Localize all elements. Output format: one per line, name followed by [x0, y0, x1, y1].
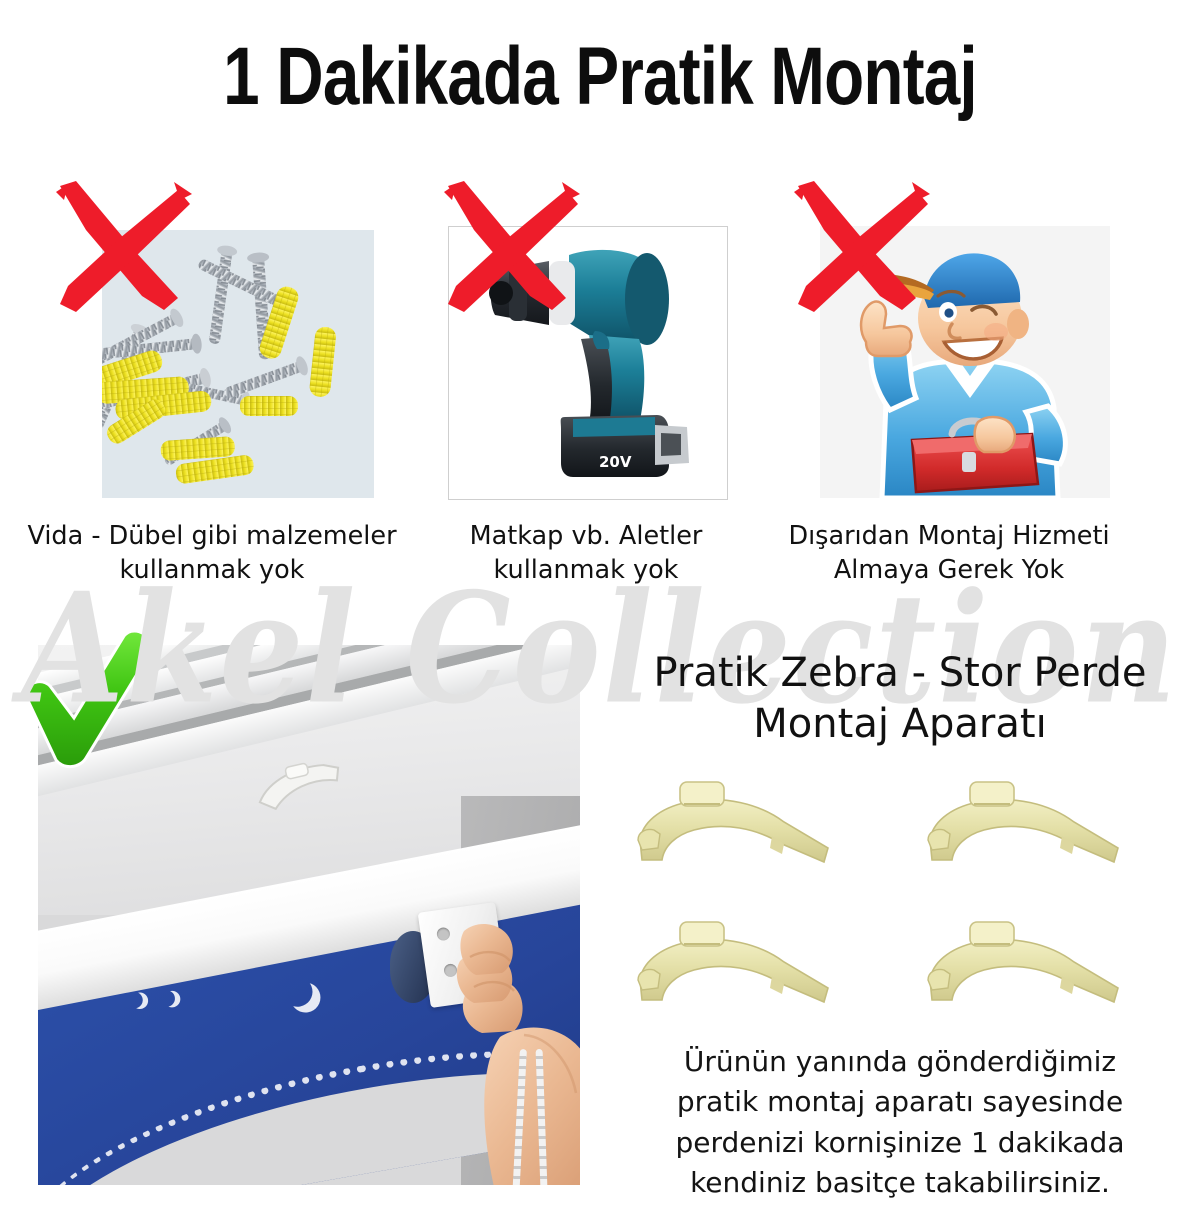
page-title: 1 Dakikada Pratik Montaj: [120, 34, 1080, 120]
red-x-icon: [784, 178, 934, 328]
product-heading-line-1: Pratik Zebra - Stor Perde: [600, 648, 1200, 699]
curtain-rail-mounting-clip: [922, 778, 1132, 870]
no-item-caption: Vida - Dübel gibi malzemeler kullanmak y…: [2, 520, 422, 587]
curtain-rail-mounting-clip: [922, 918, 1132, 1010]
description-line-4: kendiniz basitçe takabilirsiniz.: [600, 1163, 1200, 1203]
caption-line-2: Almaya Gerek Yok: [784, 554, 1114, 588]
product-heading: Pratik Zebra - Stor Perde Montaj Aparatı: [600, 648, 1200, 750]
not-needed-items-row: Vida - Dübel gibi malzemeler kullanmak y…: [0, 178, 1200, 598]
no-item-installer-service: Dışarıdan Montaj Hizmeti Almaya Gerek Yo…: [780, 178, 1120, 598]
caption-line-1: Dışarıdan Montaj Hizmeti: [784, 520, 1114, 554]
caption-line-1: Matkap vb. Aletler: [426, 520, 746, 554]
caption-line-2: kullanmak yok: [426, 554, 746, 588]
fabric-motif: [124, 990, 145, 1011]
no-item-caption: Dışarıdan Montaj Hizmeti Almaya Gerek Yo…: [784, 520, 1114, 587]
description-line-2: pratik montaj aparatı sayesinde: [600, 1082, 1200, 1122]
drill-voltage-label: 20V: [599, 453, 632, 471]
green-check-icon: [12, 630, 162, 780]
caption-line-1: Vida - Dübel gibi malzemeler: [2, 520, 422, 554]
no-item-caption: Matkap vb. Aletler kullanmak yok: [426, 520, 746, 587]
mounting-clips-grid: [622, 778, 1178, 1028]
curtain-rail-mounting-clip: [632, 918, 842, 1010]
red-x-icon: [434, 178, 584, 328]
caption-line-2: kullanmak yok: [2, 554, 422, 588]
product-heading-line-2: Montaj Aparatı: [600, 699, 1200, 750]
product-description: Ürünün yanında gönderdiğimiz pratik mont…: [600, 1042, 1200, 1203]
description-line-3: perdenizi kornişinize 1 dakikada: [600, 1123, 1200, 1163]
no-item-screws: Vida - Dübel gibi malzemeler kullanmak y…: [42, 178, 382, 598]
hand-photo: [430, 917, 580, 1185]
red-x-icon: [46, 178, 196, 328]
description-line-1: Ürünün yanında gönderdiğimiz: [600, 1042, 1200, 1082]
fabric-motif: [156, 988, 177, 1009]
no-item-drill: 20V Matkap vb. Aletler kullanmak yok: [430, 178, 770, 598]
fabric-motif: [279, 974, 315, 1010]
curtain-rail-mounting-clip: [632, 778, 842, 870]
